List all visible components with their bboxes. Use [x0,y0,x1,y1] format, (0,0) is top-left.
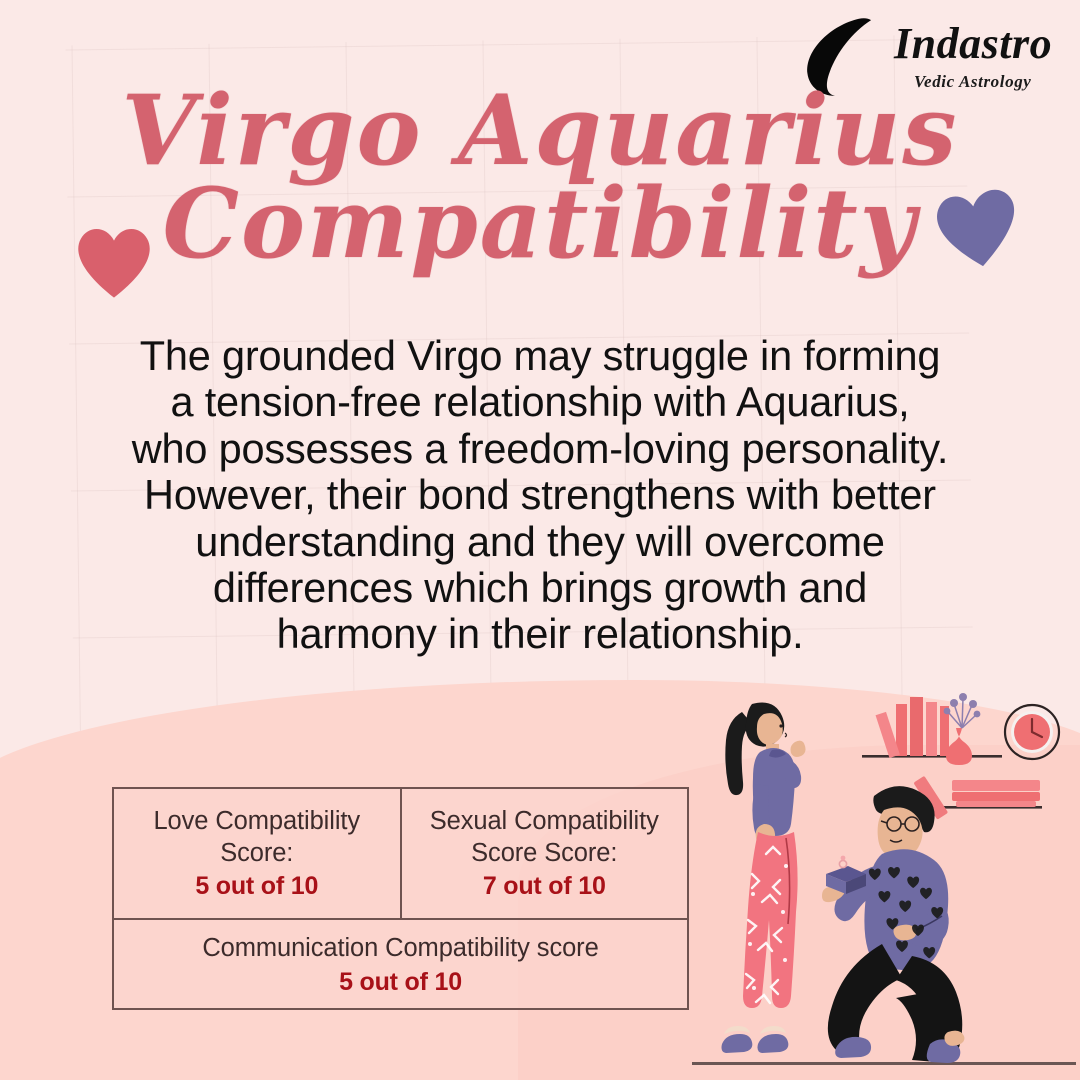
title-line-2: Compatibility [0,179,1080,268]
compatibility-score-table: Love Compatibility Score: 5 out of 10 Se… [112,787,689,1010]
table-row: Communication Compatibility score 5 out … [114,920,687,1010]
love-score-label: Love Compatibility Score: [124,806,390,868]
communication-score-value: 5 out of 10 [339,968,462,997]
communication-score-label: Communication Compatibility score [202,933,598,964]
description-block: The grounded Virgo may struggle in formi… [128,333,952,658]
man-figure [822,786,964,1063]
page-title: Virgo Aquarius Compatibility [0,86,1080,269]
brand-name: Indastro [894,22,1052,66]
sexual-score-label: Sexual Compatibility Score Score: [412,806,678,868]
bookshelf-upper [862,693,1002,765]
sexual-score-cell: Sexual Compatibility Score Score: 7 out … [402,789,688,918]
ring-box [826,856,866,894]
title-line-1: Virgo Aquarius [0,86,1080,175]
table-row: Love Compatibility Score: 5 out of 10 Se… [114,789,687,920]
poster-canvas: Indastro Vedic Astrology Virgo Aquarius … [0,0,1080,1080]
marriage-proposal-illustration [686,688,1080,1080]
love-score-cell: Love Compatibility Score: 5 out of 10 [114,789,402,918]
woman-figure [722,703,806,1054]
description-paragraph: The grounded Virgo may struggle in formi… [128,333,952,658]
wall-clock-icon [1005,705,1059,759]
love-score-value: 5 out of 10 [195,872,318,901]
sexual-score-value: 7 out of 10 [483,872,606,901]
